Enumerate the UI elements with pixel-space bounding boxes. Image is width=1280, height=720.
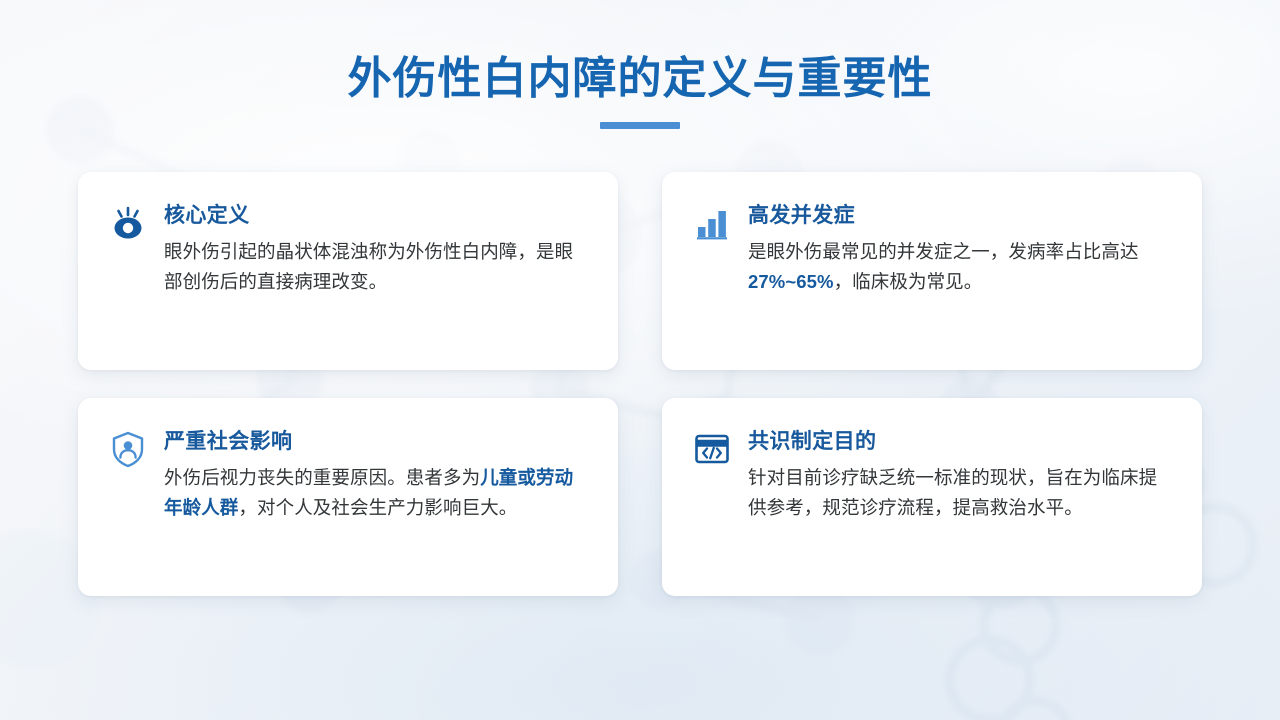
card-title: 高发并发症 <box>748 203 1174 229</box>
bar-chart-icon <box>692 203 732 243</box>
card-title: 共识制定目的 <box>748 429 1174 455</box>
code-window-icon <box>692 429 732 469</box>
slide-header: 外伤性白内障的定义与重要性 <box>0 54 1280 129</box>
title-underline-rule <box>600 122 680 129</box>
card-text: 是眼外伤最常见的并发症之一，发病率占比高达27%~65%，临床极为常见。 <box>748 237 1174 297</box>
card-body: 严重社会影响 外伤后视力丧失的重要原因。患者多为儿童或劳动年龄人群，对个人及社会… <box>164 428 590 523</box>
card-body: 高发并发症 是眼外伤最常见的并发症之一，发病率占比高达27%~65%，临床极为常… <box>748 202 1174 297</box>
card-grid: 核心定义 眼外伤引起的晶状体混浊称为外伤性白内障，是眼部创伤后的直接病理改变。 … <box>78 172 1202 596</box>
card-title: 严重社会影响 <box>164 429 590 455</box>
slide: 外伤性白内障的定义与重要性 核心定义 眼外伤引起的晶状体混浊称为外伤性白 <box>0 0 1280 720</box>
card-consensus-purpose[interactable]: 共识制定目的 针对目前诊疗缺乏统一标准的现状，旨在为临床提供参考，规范诊疗流程，… <box>662 398 1202 596</box>
card-body: 核心定义 眼外伤引起的晶状体混浊称为外伤性白内障，是眼部创伤后的直接病理改变。 <box>164 202 590 297</box>
card-text: 针对目前诊疗缺乏统一标准的现状，旨在为临床提供参考，规范诊疗流程，提高救治水平。 <box>748 463 1174 523</box>
page-title: 外伤性白内障的定义与重要性 <box>0 54 1280 105</box>
shield-person-icon <box>108 429 148 469</box>
card-body: 共识制定目的 针对目前诊疗缺乏统一标准的现状，旨在为临床提供参考，规范诊疗流程，… <box>748 428 1174 523</box>
card-title: 核心定义 <box>164 203 590 229</box>
card-social-impact[interactable]: 严重社会影响 外伤后视力丧失的重要原因。患者多为儿童或劳动年龄人群，对个人及社会… <box>78 398 618 596</box>
eye-icon <box>108 203 148 243</box>
card-high-incidence-complication[interactable]: 高发并发症 是眼外伤最常见的并发症之一，发病率占比高达27%~65%，临床极为常… <box>662 172 1202 370</box>
card-core-definition[interactable]: 核心定义 眼外伤引起的晶状体混浊称为外伤性白内障，是眼部创伤后的直接病理改变。 <box>78 172 618 370</box>
card-text: 眼外伤引起的晶状体混浊称为外伤性白内障，是眼部创伤后的直接病理改变。 <box>164 237 590 297</box>
card-text: 外伤后视力丧失的重要原因。患者多为儿童或劳动年龄人群，对个人及社会生产力影响巨大… <box>164 463 590 523</box>
